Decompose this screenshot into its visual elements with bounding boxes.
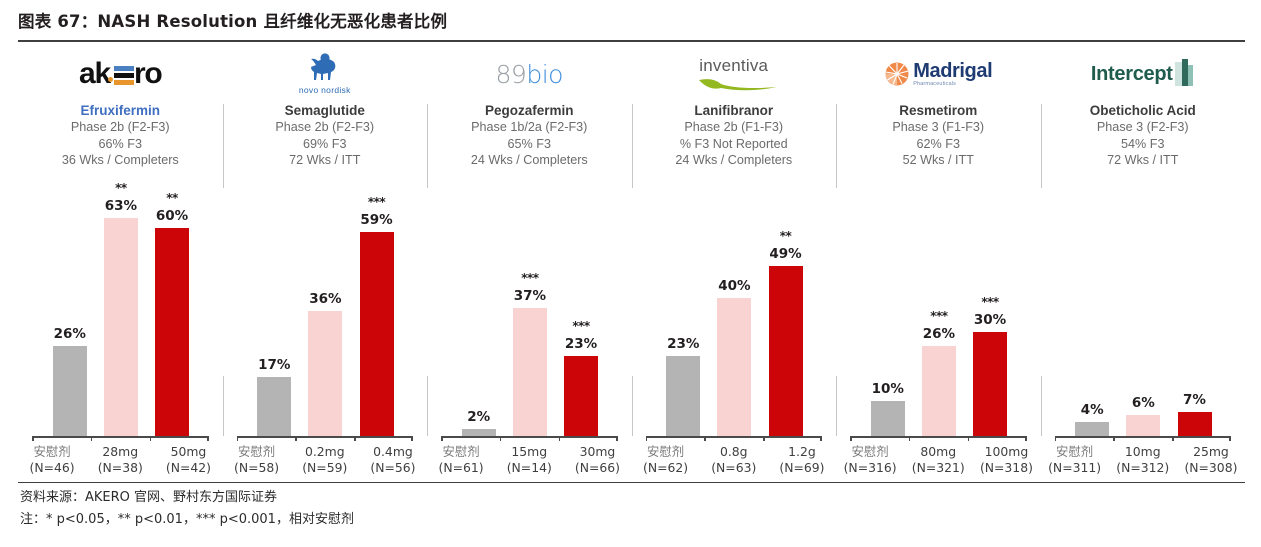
- bar-2[interactable]: ***26%: [922, 346, 956, 436]
- significance-marker: **: [141, 191, 203, 205]
- group-axis: [32, 436, 209, 442]
- trial-duration: 52 Wks / ITT: [903, 152, 974, 169]
- axis-line: [1055, 436, 1232, 438]
- bar-value-label: 49%: [755, 246, 817, 262]
- group-tick-labels: 安慰剂(N=311)10mg(N=312)25mg(N=308): [1041, 444, 1246, 475]
- axis-cap-right: [616, 436, 618, 441]
- axis-line: [32, 436, 209, 438]
- dose-label: 安慰剂: [223, 444, 291, 460]
- bar-fill: [666, 356, 700, 436]
- bar-2[interactable]: 36%: [308, 311, 342, 436]
- significance-marker: ***: [346, 195, 408, 209]
- dose-label: 安慰剂: [1041, 444, 1109, 460]
- tick-label-1: 安慰剂(N=58): [223, 444, 291, 475]
- novo-nordisk-logo: novo nordisk: [299, 53, 351, 95]
- novo-nordisk-wordmark: novo nordisk: [299, 85, 351, 95]
- drug-name: Obeticholic Acid: [1090, 103, 1196, 119]
- drug-name: Semaglutide: [285, 103, 365, 119]
- dose-label: 25mg: [1177, 444, 1245, 460]
- axis-tick-2: [968, 436, 970, 441]
- axis-cap-right: [1025, 436, 1027, 441]
- bar-1[interactable]: 4%: [1075, 422, 1109, 436]
- bar-3[interactable]: **60%: [155, 228, 189, 436]
- group-axis: [646, 436, 823, 442]
- tick-label-2: 28mg(N=38): [86, 444, 154, 475]
- bar-2[interactable]: **63%: [104, 218, 138, 436]
- bar-fill: [155, 228, 189, 436]
- bar-fill: [462, 429, 496, 436]
- logo-container: MadrigalPharmaceuticals: [884, 48, 992, 100]
- dose-label: 1.2g: [768, 444, 836, 460]
- bar-chart: 26%**63%**60%安慰剂(N=46)28mg(N=38)50mg(N=4…: [18, 194, 1245, 480]
- group-tick-labels: 安慰剂(N=316)80mg(N=321)100mg(N=318): [836, 444, 1041, 475]
- sample-size-label: (N=59): [291, 460, 359, 476]
- chart-title-bar: 图表 67：NASH Resolution 且纤维化无恶化患者比例: [18, 8, 1243, 38]
- tick-label-1: 安慰剂(N=316): [836, 444, 904, 475]
- trial-phase: Phase 3 (F2-F3): [1097, 119, 1189, 136]
- logo-container: 89bio: [496, 48, 563, 100]
- bar-value-label: 59%: [346, 212, 408, 228]
- significance-marker: **: [755, 229, 817, 243]
- tick-label-2: 0.2mg(N=59): [291, 444, 359, 475]
- axis-tick-1: [704, 436, 706, 441]
- significance-marker: ***: [499, 271, 561, 285]
- chart-group-5: 10%***26%***30%安慰剂(N=316)80mg(N=321)100m…: [836, 194, 1041, 480]
- axis-cap-right: [1229, 436, 1231, 441]
- axis-cap-left: [850, 436, 852, 441]
- trial-phase: Phase 3 (F1-F3): [892, 119, 984, 136]
- bar-3[interactable]: ***23%: [564, 356, 598, 436]
- axis-tick-1: [909, 436, 911, 441]
- bar-value-label: 26%: [39, 326, 101, 342]
- drug-name: Lanifibranor: [694, 103, 773, 119]
- madrigal-logo: MadrigalPharmaceuticals: [884, 61, 992, 87]
- axis-tick-2: [559, 436, 561, 441]
- bar-value-label: 10%: [857, 381, 919, 397]
- axis-cap-right: [411, 436, 413, 441]
- group-axis: [850, 436, 1027, 442]
- madrigal-wordmark: Madrigal: [913, 62, 992, 81]
- bar-value-label: 7%: [1164, 392, 1226, 408]
- sample-size-label: (N=316): [836, 460, 904, 476]
- axis-tick-1: [1113, 436, 1115, 441]
- company-column-2: novo nordiskSemaglutidePhase 2b (F2-F3)6…: [223, 48, 428, 194]
- bar-2[interactable]: ***37%: [513, 308, 547, 436]
- bar-fill: [53, 346, 87, 436]
- f3-percentage: 62% F3: [917, 136, 960, 153]
- bar-fill: [513, 308, 547, 436]
- dose-label: 10mg: [1109, 444, 1177, 460]
- bar-fill: [360, 232, 394, 436]
- dose-label: 0.8g: [700, 444, 768, 460]
- footer-notes: 资料来源：AKERO 官网、野村东方国际证券 注：* p<0.05，** p<0…: [20, 487, 1220, 531]
- bar-value-label: 17%: [243, 357, 305, 373]
- footer-divider: [18, 482, 1245, 483]
- group-axis: [237, 436, 414, 442]
- axis-line: [441, 436, 618, 438]
- group-tick-labels: 安慰剂(N=46)28mg(N=38)50mg(N=42): [18, 444, 223, 475]
- title-divider: [18, 40, 1245, 42]
- trial-phase: Phase 2b (F2-F3): [275, 119, 374, 136]
- axis-line: [850, 436, 1027, 438]
- significance-marker: ***: [550, 319, 612, 333]
- dose-label: 30mg: [563, 444, 631, 460]
- inventiva-wordmark: inventiva: [699, 56, 768, 76]
- f3-percentage: % F3 Not Reported: [680, 136, 788, 153]
- trial-phase: Phase 2b (F2-F3): [71, 119, 170, 136]
- group-tick-labels: 安慰剂(N=62)0.8g(N=63)1.2g(N=69): [632, 444, 837, 475]
- group-tick-labels: 安慰剂(N=61)15mg(N=14)30mg(N=66): [427, 444, 632, 475]
- sample-size-label: (N=63): [700, 460, 768, 476]
- tick-label-3: 0.4mg(N=56): [359, 444, 427, 475]
- axis-cap-right: [820, 436, 822, 441]
- dose-label: 15mg: [495, 444, 563, 460]
- dose-label: 0.4mg: [359, 444, 427, 460]
- trial-duration: 24 Wks / Completers: [675, 152, 792, 169]
- sample-size-label: (N=38): [86, 460, 154, 476]
- axis-cap-left: [646, 436, 648, 441]
- logo-container: Intercept: [1091, 48, 1195, 100]
- bar-2[interactable]: 6%: [1126, 415, 1160, 436]
- plot-region: 2%***37%***23%: [427, 194, 632, 436]
- bar-3[interactable]: ***30%: [973, 332, 1007, 436]
- page-title: 图表 67：NASH Resolution 且纤维化无恶化患者比例: [18, 8, 1243, 32]
- sample-size-label: (N=42): [154, 460, 222, 476]
- axis-tick-2: [763, 436, 765, 441]
- plot-region: 26%**63%**60%: [18, 194, 223, 436]
- tick-label-2: 0.8g(N=63): [700, 444, 768, 475]
- bar-value-label: 26%: [908, 326, 970, 342]
- sample-size-label: (N=58): [223, 460, 291, 476]
- bar-fill: [871, 401, 905, 436]
- axis-cap-left: [32, 436, 34, 441]
- logo-container: akro: [79, 48, 162, 100]
- f3-percentage: 65% F3: [508, 136, 551, 153]
- tick-label-2: 10mg(N=312): [1109, 444, 1177, 475]
- f3-percentage: 69% F3: [303, 136, 346, 153]
- group-axis: [1055, 436, 1232, 442]
- plot-region: 17%36%***59%: [223, 194, 428, 436]
- bar-3[interactable]: 7%: [1178, 412, 1212, 436]
- eightynine-bio-logo: 89bio: [496, 60, 563, 89]
- trial-phase: Phase 2b (F1-F3): [684, 119, 783, 136]
- tick-label-3: 1.2g(N=69): [768, 444, 836, 475]
- source-line: 资料来源：AKERO 官网、野村东方国际证券: [20, 487, 1220, 509]
- tick-label-2: 80mg(N=321): [904, 444, 972, 475]
- group-axis: [441, 436, 618, 442]
- bar-3[interactable]: ***59%: [360, 232, 394, 436]
- bar-fill: [1126, 415, 1160, 436]
- company-column-3: 89bioPegozaferminPhase 1b/2a (F2-F3)65% …: [427, 48, 632, 194]
- tick-label-1: 安慰剂(N=46): [18, 444, 86, 475]
- bar-fill: [769, 266, 803, 436]
- novo-nordisk-bull-icon: [299, 53, 351, 87]
- plot-region: 10%***26%***30%: [836, 194, 1041, 436]
- chart-group-4: 23%40%**49%安慰剂(N=62)0.8g(N=63)1.2g(N=69): [632, 194, 837, 480]
- bar-fill: [973, 332, 1007, 436]
- madrigal-subtext: Pharmaceuticals: [913, 81, 956, 87]
- sample-size-label: (N=14): [495, 460, 563, 476]
- intercept-wordmark: Intercept: [1091, 63, 1173, 86]
- axis-tick-1: [295, 436, 297, 441]
- tick-label-3: 50mg(N=42): [154, 444, 222, 475]
- drug-name: Efruxifermin: [80, 103, 160, 119]
- trial-duration: 24 Wks / Completers: [471, 152, 588, 169]
- axis-line: [237, 436, 414, 438]
- logo-container: novo nordisk: [299, 48, 351, 100]
- sample-size-label: (N=46): [18, 460, 86, 476]
- dose-label: 安慰剂: [427, 444, 495, 460]
- intercept-mark-icon: [1173, 59, 1195, 89]
- axis-line: [646, 436, 823, 438]
- trial-duration: 36 Wks / Completers: [62, 152, 179, 169]
- trial-phase: Phase 1b/2a (F2-F3): [471, 119, 587, 136]
- bar-fill: [257, 377, 291, 436]
- trial-duration: 72 Wks / ITT: [1107, 152, 1178, 169]
- drug-name: Pegozafermin: [485, 103, 574, 119]
- tick-label-3: 25mg(N=308): [1177, 444, 1245, 475]
- dose-label: 50mg: [154, 444, 222, 460]
- tick-label-3: 100mg(N=318): [972, 444, 1040, 475]
- chart-group-6: 4%6%7%安慰剂(N=311)10mg(N=312)25mg(N=308): [1041, 194, 1246, 480]
- drug-name: Resmetirom: [899, 103, 977, 119]
- axis-cap-left: [1055, 436, 1057, 441]
- dose-label: 安慰剂: [836, 444, 904, 460]
- company-column-4: inventivaLanifibranorPhase 2b (F1-F3)% F…: [632, 48, 837, 194]
- dose-label: 安慰剂: [18, 444, 86, 460]
- chart-group-3: 2%***37%***23%安慰剂(N=61)15mg(N=14)30mg(N=…: [427, 194, 632, 480]
- tick-label-1: 安慰剂(N=311): [1041, 444, 1109, 475]
- bar-fill: [1178, 412, 1212, 436]
- bar-1[interactable]: 17%: [257, 377, 291, 436]
- f3-percentage: 54% F3: [1121, 136, 1164, 153]
- bar-value-label: 30%: [959, 312, 1021, 328]
- sample-size-label: (N=56): [359, 460, 427, 476]
- bar-1[interactable]: 10%: [871, 401, 905, 436]
- tick-label-1: 安慰剂(N=61): [427, 444, 495, 475]
- dose-label: 100mg: [972, 444, 1040, 460]
- sample-size-label: (N=61): [427, 460, 495, 476]
- bar-2[interactable]: 40%: [717, 298, 751, 436]
- group-tick-labels: 安慰剂(N=58)0.2mg(N=59)0.4mg(N=56): [223, 444, 428, 475]
- axis-tick-2: [354, 436, 356, 441]
- axis-cap-left: [441, 436, 443, 441]
- tick-label-2: 15mg(N=14): [495, 444, 563, 475]
- company-column-5: MadrigalPharmaceuticalsResmetiromPhase 3…: [836, 48, 1041, 194]
- axis-cap-left: [237, 436, 239, 441]
- dose-label: 安慰剂: [632, 444, 700, 460]
- sample-size-label: (N=69): [768, 460, 836, 476]
- dose-label: 28mg: [86, 444, 154, 460]
- bar-1[interactable]: 26%: [53, 346, 87, 436]
- bar-fill: [1075, 422, 1109, 436]
- f3-percentage: 66% F3: [99, 136, 142, 153]
- axis-tick-2: [1172, 436, 1174, 441]
- madrigal-shell-icon: [884, 61, 910, 87]
- company-column-6: InterceptObeticholic AcidPhase 3 (F2-F3)…: [1041, 48, 1246, 194]
- tick-label-3: 30mg(N=66): [563, 444, 631, 475]
- bar-value-label: 23%: [550, 336, 612, 352]
- significance-marker: ***: [959, 295, 1021, 309]
- bar-value-label: 40%: [703, 278, 765, 294]
- bar-value-label: 2%: [448, 409, 510, 425]
- bar-value-label: 36%: [294, 291, 356, 307]
- sample-size-label: (N=318): [972, 460, 1040, 476]
- dose-label: 0.2mg: [291, 444, 359, 460]
- bar-1[interactable]: 23%: [666, 356, 700, 436]
- trial-duration: 72 Wks / ITT: [289, 152, 360, 169]
- bar-value-label: 60%: [141, 208, 203, 224]
- bar-fill: [104, 218, 138, 436]
- axis-tick-1: [91, 436, 93, 441]
- akero-logo: akro: [79, 57, 162, 91]
- inventiva-leaf-icon: [689, 76, 779, 92]
- bar-fill: [717, 298, 751, 436]
- dose-label: 80mg: [904, 444, 972, 460]
- axis-cap-right: [207, 436, 209, 441]
- tick-label-1: 安慰剂(N=62): [632, 444, 700, 475]
- sample-size-label: (N=321): [904, 460, 972, 476]
- bar-fill: [564, 356, 598, 436]
- bar-3[interactable]: **49%: [769, 266, 803, 436]
- inventiva-logo: inventiva: [689, 56, 779, 92]
- company-column-1: akroEfruxiferminPhase 2b (F2-F3)66% F336…: [18, 48, 223, 194]
- chart-group-2: 17%36%***59%安慰剂(N=58)0.2mg(N=59)0.4mg(N=…: [223, 194, 428, 480]
- bar-fill: [922, 346, 956, 436]
- bar-fill: [308, 311, 342, 436]
- plot-region: 4%6%7%: [1041, 194, 1246, 436]
- sample-size-label: (N=311): [1041, 460, 1109, 476]
- logo-container: inventiva: [689, 48, 779, 100]
- sample-size-label: (N=66): [563, 460, 631, 476]
- sample-size-label: (N=62): [632, 460, 700, 476]
- bar-value-label: 37%: [499, 288, 561, 304]
- bar-1[interactable]: 2%: [462, 429, 496, 436]
- chart-group-1: 26%**63%**60%安慰剂(N=46)28mg(N=38)50mg(N=4…: [18, 194, 223, 480]
- intercept-logo: Intercept: [1091, 59, 1195, 89]
- axis-tick-2: [150, 436, 152, 441]
- axis-tick-1: [500, 436, 502, 441]
- sample-size-label: (N=312): [1109, 460, 1177, 476]
- company-header-band: akroEfruxiferminPhase 2b (F2-F3)66% F336…: [18, 48, 1245, 194]
- significance-note: 注：* p<0.05，** p<0.01，*** p<0.001，相对安慰剂: [20, 509, 1220, 531]
- plot-region: 23%40%**49%: [632, 194, 837, 436]
- bar-value-label: 23%: [652, 336, 714, 352]
- sample-size-label: (N=308): [1177, 460, 1245, 476]
